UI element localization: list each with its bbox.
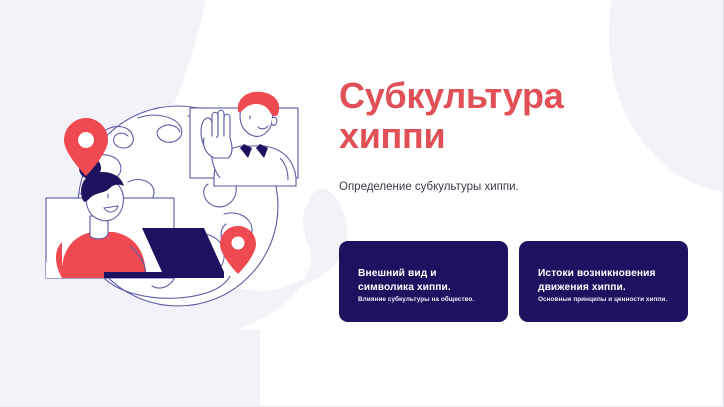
person-waving-frame xyxy=(190,92,298,186)
page-title: Субкультура хиппи xyxy=(339,76,639,157)
slide-canvas: Субкультура хиппи Определение субкультур… xyxy=(0,0,724,407)
topic-card-title: Внешний вид и символика хиппи. xyxy=(358,267,492,294)
globe-video-call-illustration xyxy=(28,86,328,331)
topic-card-subtitle: Основные принципы и ценности хиппи. xyxy=(538,294,672,305)
topic-card-title: Истоки возникновения движения хиппи. xyxy=(538,267,672,294)
topic-card-appearance[interactable]: Внешний вид и символика хиппи. Влияние с… xyxy=(339,241,508,322)
topic-card-origins[interactable]: Истоки возникновения движения хиппи. Осн… xyxy=(519,241,688,322)
topic-card-list: Внешний вид и символика хиппи. Влияние с… xyxy=(339,241,689,322)
laptop-base xyxy=(104,272,224,278)
text-content: Субкультура хиппи Определение субкультур… xyxy=(339,76,689,195)
page-subtitle: Определение субкультуры хиппи. xyxy=(339,157,689,195)
topic-card-subtitle: Влияние субкультуры на общество. xyxy=(358,294,492,305)
blob-left-fill xyxy=(0,330,260,407)
person-ear-top xyxy=(272,117,277,125)
